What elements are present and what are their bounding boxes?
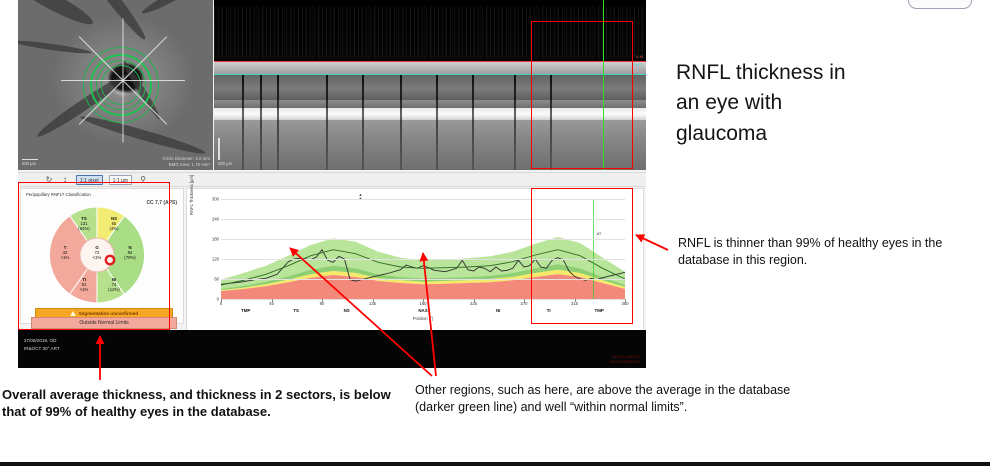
annotation-left: Overall average thickness, and thickness…	[2, 386, 402, 420]
sector-label-ns: NS 65 (4%)	[99, 216, 129, 232]
cc-value-label: CC 7.7 (APS)	[146, 200, 177, 206]
vessel-shadow	[242, 75, 244, 170]
sector-label-global: G 72 <1%	[83, 245, 111, 261]
vessel-shadow	[326, 75, 328, 170]
micron-scale-button[interactable]: 1:1 µm	[109, 175, 132, 185]
annotation-right: RNFL is thinner than 99% of healthy eyes…	[678, 235, 978, 268]
gridline	[221, 279, 625, 280]
x-tick-mark	[272, 299, 273, 302]
exam-date-eye-label: 27/06/2019, OD	[24, 338, 56, 343]
chart-y-axis-label: RNFL Thickness [µm]	[189, 175, 194, 215]
y-tick-label: 180	[212, 237, 219, 242]
y-tick-label: 0	[217, 297, 219, 302]
gridline	[221, 199, 625, 200]
bmo-area-label: BMO Area: 1.75 mm²	[163, 162, 210, 167]
vessel-shadow	[550, 75, 552, 170]
sector-axis-label: TI	[547, 308, 551, 313]
vessel-shadow	[277, 75, 279, 170]
slide-root: 200 µm Circle Diameter: 3.0 mm BMO Area:…	[0, 0, 990, 472]
sector-axis-label: NS	[344, 308, 350, 313]
gridline	[221, 219, 625, 220]
sector-spoke	[123, 19, 124, 81]
sector-label-ti: TI 51 <1%	[69, 277, 99, 293]
vessel-shadow	[362, 75, 364, 170]
x-tick-mark	[625, 299, 626, 302]
warning-triangle-icon	[70, 311, 76, 316]
sector-label-ts: TS 131 (64%)	[69, 216, 99, 232]
segmentation-warning-label: Segmentation unconfirmed	[79, 311, 138, 316]
y-tick-label: 240	[212, 217, 219, 222]
fundus-metadata: Circle Diameter: 3.0 mm BMO Area: 1.75 m…	[163, 156, 210, 167]
sector-axis-label: TMP	[595, 308, 604, 313]
slide-title-line: an eye with	[676, 88, 976, 118]
tsnit-plot-area[interactable]: 060120180240300 04590135180225270315360 …	[221, 199, 625, 299]
vessel-shadow	[436, 75, 438, 170]
vessel	[18, 38, 92, 55]
x-tick-mark	[322, 299, 323, 302]
circle-diameter-label: Circle Diameter: 3.0 mm	[163, 156, 210, 161]
sector-axis-label: TS	[293, 308, 299, 313]
tsnit-plot-svg	[221, 199, 625, 299]
slide-title: RNFL thickness inan eye withglaucoma	[676, 58, 976, 149]
sector-label-t: T 42 <1%	[51, 245, 79, 261]
x-tick-mark	[221, 299, 222, 302]
y-tick-label: 60	[214, 277, 219, 282]
verdict-label: Outside Normal Limits	[79, 320, 128, 326]
tsnit-chart-card: ▲ ▼ | RNFL Thickness [µm] 06012018024030…	[186, 188, 644, 340]
vessel-shadow	[514, 75, 516, 170]
fundus-scalebar: 200 µm	[22, 159, 38, 166]
annotation-middle: Other regions, such as here, are above t…	[415, 382, 825, 415]
scan-circle-innermost	[101, 65, 141, 105]
oct-bscan-image[interactable]: ILM RNFL 200 µm	[214, 0, 646, 170]
sector-spoke	[123, 80, 185, 81]
outside-normal-limits-banner: Outside Normal Limits	[31, 317, 177, 329]
vessel	[79, 112, 207, 157]
vessel-shadow	[400, 75, 402, 170]
report-footer: 27/06/2019, OD IR&OCT 30° ART HEIDELBERG…	[18, 330, 646, 368]
scan-protocol-label: IR&OCT 30° ART	[24, 346, 60, 351]
top-right-button[interactable]	[908, 0, 972, 9]
oct-report-panel: 200 µm Circle Diameter: 3.0 mm BMO Area:…	[18, 0, 646, 368]
ilm-label: ILM	[636, 54, 643, 59]
fundus-ir-image[interactable]: 200 µm Circle Diameter: 3.0 mm BMO Area:…	[18, 0, 213, 170]
rnfl-segmentation-line	[214, 74, 646, 75]
report-analysis-row: Peripapillary RNFLT Classification CC 7.…	[18, 188, 646, 328]
at-marker-label: AT	[597, 231, 602, 236]
chart-x-axis-label: Position (°)	[413, 316, 434, 321]
speckle-noise	[214, 6, 646, 58]
bscan-position-marker[interactable]	[603, 0, 604, 170]
sector-axis-label: TMP	[241, 308, 250, 313]
x-tick-mark	[474, 299, 475, 302]
slide-bottom-rule	[0, 462, 990, 466]
gridline	[221, 259, 625, 260]
report-images-row: 200 µm Circle Diameter: 3.0 mm BMO Area:…	[18, 0, 646, 172]
vessel	[140, 0, 206, 17]
sector-label-n: N 84 (70%)	[116, 245, 144, 261]
vessel	[18, 0, 96, 30]
caliper-icon[interactable]: ↕	[60, 175, 70, 185]
sector-label-ni: NI 74 (12%)	[99, 277, 129, 293]
y-tick-label: 300	[212, 197, 219, 202]
sector-wheel[interactable]: TS 131 (64%) NS 65 (4%) N 84 (70%)	[49, 207, 145, 303]
heidelberg-logo: HEIDELBERG ENGINEERING	[610, 355, 640, 364]
gridline	[221, 239, 625, 240]
pixel-scale-button[interactable]: 1:1 pixel	[76, 175, 103, 185]
sector-axis-label: NI	[496, 308, 500, 313]
x-tick-mark	[575, 299, 576, 302]
slide-title-line: RNFL thickness in	[676, 58, 976, 88]
refresh-icon[interactable]: ↻	[44, 175, 54, 185]
sector-spoke	[123, 81, 124, 143]
x-tick-mark	[524, 299, 525, 302]
x-tick-mark	[423, 299, 424, 302]
x-tick-mark	[373, 299, 374, 302]
measure-icon[interactable]: ⚲	[138, 175, 148, 185]
rnfl-label: RNFL	[632, 62, 643, 67]
report-toolbar: ↻ ↕ 1:1 pixel 1:1 µm ⚲	[18, 172, 646, 187]
vessel-shadow	[472, 75, 474, 170]
y-tick-label: 120	[212, 257, 219, 262]
ilm-segmentation-line	[214, 61, 646, 62]
rnflt-classification-panel: Peripapillary RNFLT Classification CC 7.…	[20, 188, 184, 324]
classification-title: Peripapillary RNFLT Classification	[26, 192, 91, 197]
vessel-shadow	[260, 75, 262, 170]
sector-spoke	[61, 80, 123, 81]
sector-axis-label: NAS	[418, 308, 427, 313]
bscan-scalebar: 200 µm	[218, 138, 232, 166]
slide-title-line: glaucoma	[676, 119, 976, 149]
